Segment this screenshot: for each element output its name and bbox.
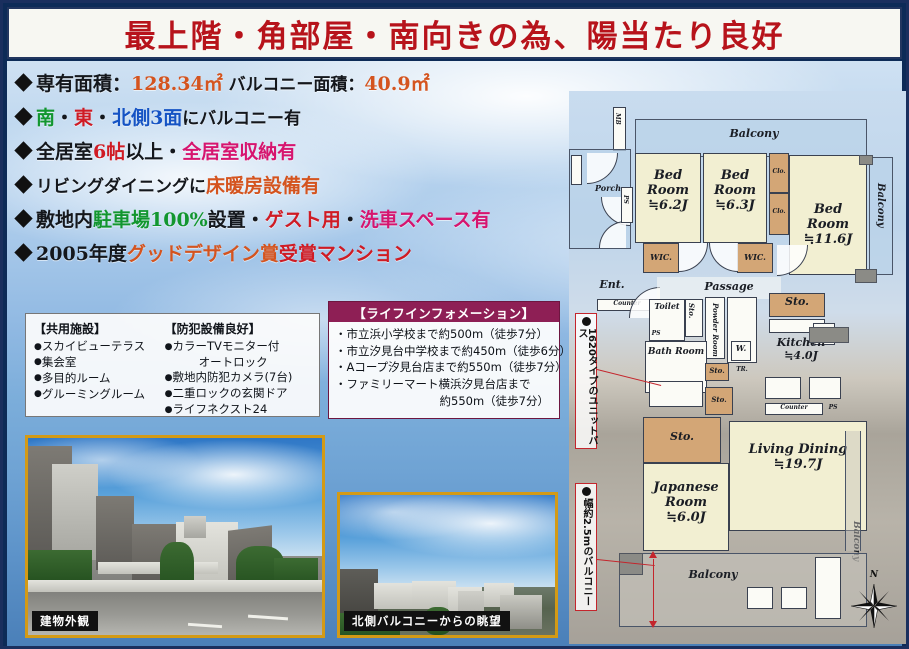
bed-room-1-label: Bed Room ≒6.2J <box>637 169 699 214</box>
feature-bullet: 南・東・北側3面にバルコニー有 <box>17 103 577 130</box>
bullet-seg: ・ <box>55 103 74 130</box>
bullet-dot-icon: ● <box>165 373 173 383</box>
door-swing-icon <box>679 243 708 272</box>
facility-subitem: オートロック <box>165 355 311 370</box>
annotation-unit-bath: 1620タイプのユニットバス <box>575 313 597 449</box>
bullet-dot-icon: ● <box>34 357 42 367</box>
feature-bullet: 2005年度グッドデザイン賞受賞マンション <box>17 239 577 266</box>
security-facilities-column: 【防犯設備良好】 ●カラーTVモニター付 オートロック ●敷地内防犯カメラ(7台… <box>165 320 311 410</box>
life-information-box: 【ライフインフォメーション】 ・市立浜小学校まで約500m（徒歩7分） ・市立汐… <box>328 301 560 419</box>
feature-bullet-list: 専有面積：128.34㎡ バルコニー面積：40.9㎡ 南・東・北側3面にバルコニ… <box>17 69 577 273</box>
bullet-seg: にバルコニー有 <box>182 104 301 129</box>
compass-star-icon <box>851 584 897 628</box>
photo-caption: 建物外観 <box>32 611 98 631</box>
bath-room-label: Bath Room <box>647 347 705 357</box>
bullet-dot-icon: ● <box>165 389 173 399</box>
facility-item: ●多目的ルーム <box>34 371 165 387</box>
facility-item-label: 多目的ルーム <box>42 371 111 385</box>
bullet-dot-icon: ● <box>165 405 173 415</box>
feature-bullet: リビングダイニングに床暖房設備有 <box>17 171 577 198</box>
bullet-seg: ・ <box>93 103 112 130</box>
room-name: Japanese Room <box>643 481 729 511</box>
bath-room-name: Bath Room <box>647 347 705 357</box>
door-swing-icon <box>709 243 738 272</box>
pipe-space-label: PS <box>622 195 629 204</box>
counter-label-2: Counter <box>765 405 823 412</box>
closet-1-label: Clo. <box>769 169 789 176</box>
facility-item-label: 敷地内防犯カメラ(7台) <box>173 370 293 384</box>
bullet-seg: ゲスト用 <box>265 205 341 232</box>
japanese-room-label: Japanese Room ≒6.0J <box>643 481 729 526</box>
life-information-body: ・市立浜小学校まで約500m（徒歩7分） ・市立汐見台中学校まで約450m（徒歩… <box>329 322 559 413</box>
facilities-box: 【共用施設】 ●スカイビューテラス ●集会室 ●多目的ルーム ●グルーミングルー… <box>25 313 320 417</box>
powder-room-label: Powder Room <box>711 303 720 357</box>
bullet-seg: 設置・ <box>208 205 265 232</box>
page-title: 最上階・角部屋・南向きの為、陽当たり良好 <box>125 11 785 56</box>
photo-wall <box>28 580 322 592</box>
air-conditioner-unit <box>747 587 773 609</box>
facility-item-label: カラーTVモニター付 <box>173 339 280 353</box>
bullet-seg: 駐車場100% <box>93 205 208 232</box>
storage-large-label: Sto. <box>643 431 721 444</box>
diamond-icon <box>14 209 32 227</box>
bullet-seg: 40.9㎡ <box>364 69 429 96</box>
dimension-arrow-up-icon <box>649 551 657 558</box>
annotation-balcony-width: 幅約2.5mのバルコニー <box>575 483 597 611</box>
bullet-seg: 以上・ <box>125 137 182 164</box>
facility-item-label: グルーミングルーム <box>42 387 145 401</box>
sto-small-2-label: Sto. <box>705 367 729 375</box>
bullet-seg: リビングダイニングに <box>36 172 206 197</box>
facility-item: ●カラーTVモニター付 <box>165 339 311 355</box>
bullet-seg: 全居室 <box>36 137 93 164</box>
balcony-east-upper-label: Balcony <box>875 183 886 228</box>
bullet-seg: 床暖房設備有 <box>206 171 320 198</box>
life-info-item: ・Aコープ汐見台店まで約550m（徒歩7分） <box>335 359 553 376</box>
balcony-north-label: Balcony <box>709 128 799 141</box>
facility-item-label: 集会室 <box>42 355 77 369</box>
flyer-root: 最上階・角部屋・南向きの為、陽当たり良好 専有面積：128.34㎡ バルコニー面… <box>0 0 909 649</box>
facility-item-label: ライフネクスト24 <box>173 402 268 416</box>
annotation-dot-icon <box>582 487 591 496</box>
mb-label: MB <box>614 113 621 125</box>
diamond-icon <box>14 175 32 193</box>
balcony-service-closet <box>815 557 841 619</box>
bullet-seg: 東 <box>74 103 93 130</box>
annotation-dimension-line <box>653 559 654 625</box>
facility-item-label: スカイビューテラス <box>42 339 145 353</box>
pipe-space-label-2: PS <box>649 331 663 338</box>
bullet-seg: 6帖 <box>93 137 125 164</box>
room-size: ≒19.7J <box>733 458 863 473</box>
passage-label: Passage <box>689 281 769 294</box>
life-info-item: ・市立浜小学校まで約500m（徒歩7分） <box>335 326 553 343</box>
photo-caption: 北側バルコニーからの眺望 <box>344 611 510 631</box>
bullet-seg: 128.34㎡ <box>131 69 223 96</box>
facility-item: ●スカイビューテラス <box>34 339 165 355</box>
room-name: Bed Room <box>705 169 765 199</box>
bullet-seg: 全居室収納有 <box>182 137 296 164</box>
life-info-item: ・ファミリーマート横浜汐見台店まで <box>335 376 553 393</box>
common-facilities-column: 【共用施設】 ●スカイビューテラス ●集会室 ●多目的ルーム ●グルーミングルー… <box>34 320 165 410</box>
bullet-seg: ・ <box>341 205 360 232</box>
stove <box>809 377 841 399</box>
title-band: 最上階・角部屋・南向きの為、陽当たり良好 <box>7 7 902 59</box>
facility-item: ●二重ロックの玄関ドア <box>165 386 311 402</box>
washer-label: W. <box>731 344 751 353</box>
annotation-text: 1620タイプのユニットバス <box>576 328 596 448</box>
facility-item: ●敷地内防犯カメラ(7台) <box>165 370 311 386</box>
photo-north-balcony-view: 北側バルコニーからの眺望 <box>337 492 558 638</box>
bullet-seg: 受賞マンション <box>279 239 412 266</box>
shaft-pipe <box>621 187 633 223</box>
bullet-seg: 洗車スペース有 <box>360 205 491 232</box>
photo-building-shape <box>96 496 134 570</box>
bullet-seg: 南 <box>36 103 55 130</box>
entrance-label: Ent. <box>589 279 635 292</box>
room-name: Bed Room <box>637 169 699 199</box>
dimension-arrow-down-icon <box>649 621 657 628</box>
diamond-icon <box>14 141 32 159</box>
bullet-seg: 2005年度 <box>36 239 127 266</box>
living-dining-label: Living Dining ≒19.7J <box>733 443 863 473</box>
floor-plan: Balcony MB Porch PS Bed Room ≒6.2J WIC. … <box>569 91 906 644</box>
diamond-icon <box>14 73 32 91</box>
life-information-heading: 【ライフインフォメーション】 <box>329 302 559 322</box>
facility-item: ●ライフネクスト24 <box>165 402 311 418</box>
bullet-seg: グッドデザイン賞 <box>127 239 279 266</box>
bullet-seg: 敷地内 <box>36 205 93 232</box>
feature-bullet: 全居室6帖以上・全居室収納有 <box>17 137 577 164</box>
bed-room-3-label: Bed Room ≒11.6J <box>791 203 865 248</box>
balcony-east-lower <box>845 431 861 551</box>
closet-2-label: Clo. <box>769 209 789 216</box>
room-size: ≒6.0J <box>643 511 729 526</box>
security-facilities-heading: 【防犯設備良好】 <box>165 320 311 337</box>
bullet-seg: 北側3面 <box>112 103 182 130</box>
photo-building-shape <box>184 516 206 538</box>
photo-building-shape <box>374 583 414 609</box>
structural-wall <box>855 269 877 283</box>
bullet-dot-icon: ● <box>34 342 42 352</box>
photo-canopy <box>98 562 218 574</box>
facility-item-label: 二重ロックの玄関ドア <box>173 386 288 400</box>
bullet-seg: バルコニー面積： <box>223 70 365 95</box>
life-info-item: ・市立汐見台中学校まで約450m（徒歩6分） <box>335 343 553 360</box>
room-size: ≒6.3J <box>705 199 765 214</box>
bullet-dot-icon: ● <box>165 342 173 352</box>
life-info-item-continuation: 約550m（徒歩7分） <box>335 393 553 410</box>
toilet-label: Toilet <box>649 302 685 311</box>
room-name: Living Dining <box>733 443 863 458</box>
sto-small-3-label: Sto. <box>705 396 733 404</box>
structural-wall <box>859 155 873 165</box>
wic-2-label: WIC. <box>737 253 773 262</box>
pipe-space-label-3: PS <box>825 405 841 412</box>
shaft-mb-2 <box>571 155 582 185</box>
bed-room-2-label: Bed Room ≒6.3J <box>705 169 765 214</box>
room-size: ≒6.2J <box>637 199 699 214</box>
photo-building-exterior: 建物外観 <box>25 435 325 638</box>
annotation-dot-icon <box>582 317 591 326</box>
sto-small-1-label: Sto. <box>687 303 696 318</box>
compass-north-label: N <box>870 570 878 580</box>
compass-rose: N <box>848 570 900 628</box>
air-conditioner-unit <box>781 587 807 609</box>
balcony-south-label: Balcony <box>667 569 759 582</box>
bullet-seg: 専有面積： <box>36 69 131 96</box>
photo-greenery <box>28 550 92 584</box>
room-size: ≒4.0J <box>765 350 837 363</box>
sink <box>765 377 801 399</box>
kitchen-storage-label: Sto. <box>769 296 825 309</box>
structural-wall <box>809 327 849 343</box>
diamond-icon <box>14 243 32 261</box>
facility-item: ●グルーミングルーム <box>34 387 165 403</box>
facility-item: ●集会室 <box>34 355 165 371</box>
room-name: Bed Room <box>791 203 865 233</box>
diamond-icon <box>14 107 32 125</box>
feature-bullet: 専有面積：128.34㎡ バルコニー面積：40.9㎡ <box>17 69 577 96</box>
bullet-dot-icon: ● <box>34 373 42 383</box>
feature-bullet: 敷地内駐車場100%設置・ゲスト用・洗車スペース有 <box>17 205 577 232</box>
wic-1-label: WIC. <box>643 253 679 262</box>
photo-building-shape <box>52 464 98 560</box>
bullet-dot-icon: ● <box>34 389 42 399</box>
common-facilities-heading: 【共用施設】 <box>34 320 165 337</box>
annotation-text: 幅約2.5mのバルコニー <box>581 498 591 606</box>
tr-label: TR. <box>733 367 751 374</box>
